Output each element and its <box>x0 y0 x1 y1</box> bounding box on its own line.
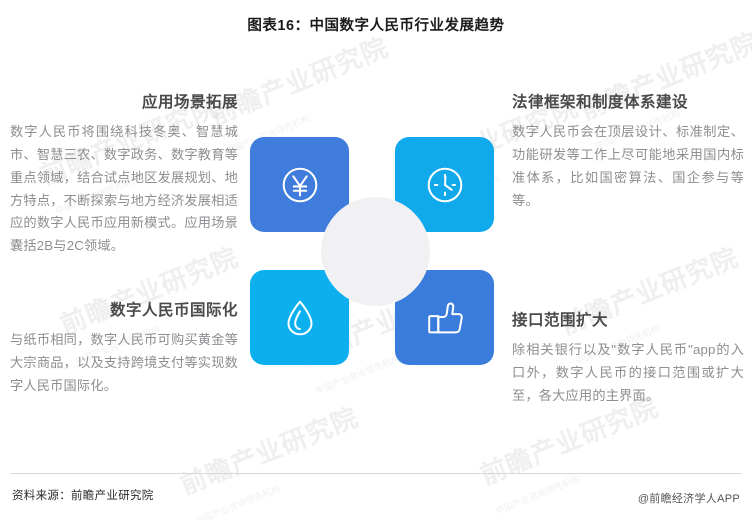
block-heading: 应用场景拓展 <box>10 92 238 114</box>
clock-icon <box>422 162 468 208</box>
source-note: 资料来源：前瞻产业研究院 <box>12 487 154 503</box>
text-block-legal-framework: 法律框架和制度体系建设 数字人民币会在顶层设计、标准制定、功能研发等工作上尽可能… <box>512 92 744 212</box>
block-heading: 法律框架和制度体系建设 <box>512 92 744 114</box>
block-heading: 接口范围扩大 <box>512 310 744 332</box>
footer-divider <box>10 473 742 474</box>
page-title: 图表16：中国数字人民币行业发展趋势 <box>0 14 752 35</box>
text-block-application-scenarios: 应用场景拓展 数字人民币将围绕科技冬奥、智慧城市、智慧三农、数字政务、数字教育等… <box>10 92 238 258</box>
watermark-text: 前瞻产业研究院中国产业咨询领先机构 <box>174 397 375 520</box>
center-icon-grid <box>250 137 492 365</box>
thumbs-up-icon <box>421 295 469 341</box>
yuan-currency-icon <box>277 162 323 208</box>
text-block-internationalization: 数字人民币国际化 与纸币相同，数字人民币可购买黄金等大宗商品，以及支持跨境支付等… <box>10 300 238 398</box>
block-body: 除相关银行以及"数字人民币"app的入口外，数字人民币的接口范围或扩大至，各大应… <box>512 339 744 407</box>
block-body: 数字人民币会在顶层设计、标准制定、功能研发等工作上尽可能地采用国内标准体系，比如… <box>512 121 744 212</box>
infographic-page: 前瞻产业研究院中国产业咨询领先机构 前瞻产业研究院中国产业咨询领先机构 前瞻产业… <box>0 0 752 520</box>
text-block-interface-expansion: 接口范围扩大 除相关银行以及"数字人民币"app的入口外，数字人民币的接口范围或… <box>512 310 744 408</box>
block-body: 数字人民币将围绕科技冬奥、智慧城市、智慧三农、数字政务、数字教育等重点领域，结合… <box>10 121 238 257</box>
block-heading: 数字人民币国际化 <box>10 300 238 322</box>
water-drop-icon <box>278 295 322 341</box>
center-circle-decoration <box>321 197 430 306</box>
block-body: 与纸币相同，数字人民币可购买黄金等大宗商品，以及支持跨境支付等实现数字人民币国际… <box>10 329 238 397</box>
brand-credit: @前瞻经济学人APP <box>638 490 740 506</box>
